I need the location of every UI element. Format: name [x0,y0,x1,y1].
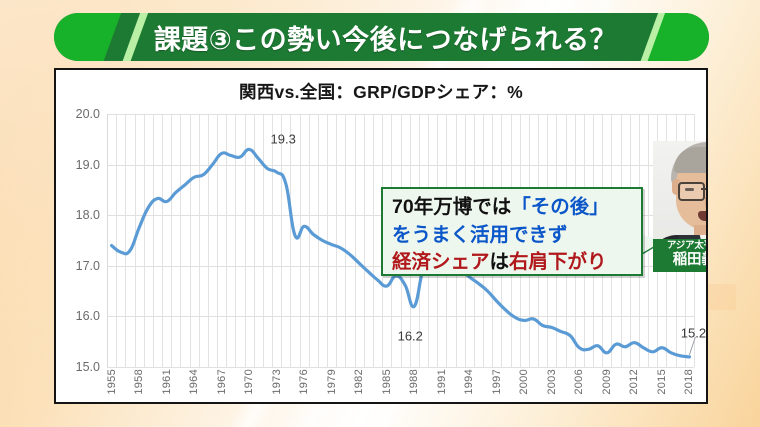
data-point-label: 16.2 [398,329,423,344]
x-axis-tick: 1985 [381,369,393,395]
x-axis-tick: 1979 [326,369,338,395]
page-title: 課題③この勢い今後につなげられる？ [54,13,709,61]
callout-line-3: 経済シェアは右肩下がり [392,249,633,277]
speaker-nameplate: アジア太平洋研究所 稲田義久氏 [653,239,708,272]
y-axis-labels: 15.016.017.018.019.020.0 [56,114,104,367]
x-axis-labels: 1955195819611964196719701973197619791982… [107,369,694,404]
y-axis-tick: 15.0 [76,360,100,374]
x-axis-tick: 1976 [298,369,310,395]
x-axis-tick: 2000 [518,369,530,395]
callout-text-segment: は [490,251,510,273]
x-axis-tick: 1991 [436,369,448,395]
x-axis-tick: 2003 [546,369,558,395]
x-axis-tick: 1964 [188,369,200,395]
glasses-icon-left [678,182,705,201]
x-axis-tick: 1970 [243,369,255,395]
y-axis-tick: 19.0 [76,158,100,172]
x-axis-tick: 2018 [683,369,695,395]
callout-line-1: 70年万博では「その後」 [392,194,633,222]
glasses-bridge [701,188,708,190]
callout-box: 70年万博では「その後」をうまく活用できず経済シェアは右肩下がり [381,187,643,276]
title-banner: 課題③この勢い今後につなげられる？ [54,13,709,61]
x-axis-tick: 2012 [628,369,640,395]
data-point-label: 19.3 [271,132,296,147]
x-axis-tick: 1961 [161,369,173,395]
y-axis-tick: 16.0 [76,309,100,323]
callout-text-segment: をうまく活用できず [392,224,568,246]
x-axis-tick: 1988 [408,369,420,395]
x-axis-tick: 1994 [463,369,475,395]
data-point-label: 15.2 [681,325,706,340]
speaker-nose [705,197,708,208]
callout-text-segment: 70年万博では [392,196,511,218]
x-axis-tick: 2006 [573,369,585,395]
callout-line-2: をうまく活用できず [392,222,633,250]
callout-text-segment: 「その後」 [511,196,609,218]
y-axis-tick: 18.0 [76,208,100,222]
speaker-name: 稲田義久氏 [653,252,708,269]
chart-title: 関西vs.全国：GRP/GDPシェア：% [56,79,706,104]
speaker-organization: アジア太平洋研究所 [653,241,708,252]
chart-panel: 関西vs.全国：GRP/GDPシェア：% 15.016.017.018.019.… [54,68,708,404]
x-axis-tick: 2009 [601,369,613,395]
x-axis-tick: 1967 [216,369,228,395]
x-axis-tick: 1973 [271,369,283,395]
speaker-video-thumbnail: アジア太平洋研究所 稲田義久氏 [653,141,708,272]
x-axis-tick: 2015 [656,369,668,395]
x-axis-tick: 1955 [106,369,118,395]
x-axis-tick: 1982 [353,369,365,395]
callout-text-segment: 右肩下がり [509,251,607,273]
x-axis-tick: 1958 [133,369,145,395]
callout-text-segment: 経済シェア [392,251,490,273]
x-axis-tick: 1997 [491,369,503,395]
y-axis-tick: 17.0 [76,259,100,273]
y-axis-tick: 20.0 [76,107,100,121]
